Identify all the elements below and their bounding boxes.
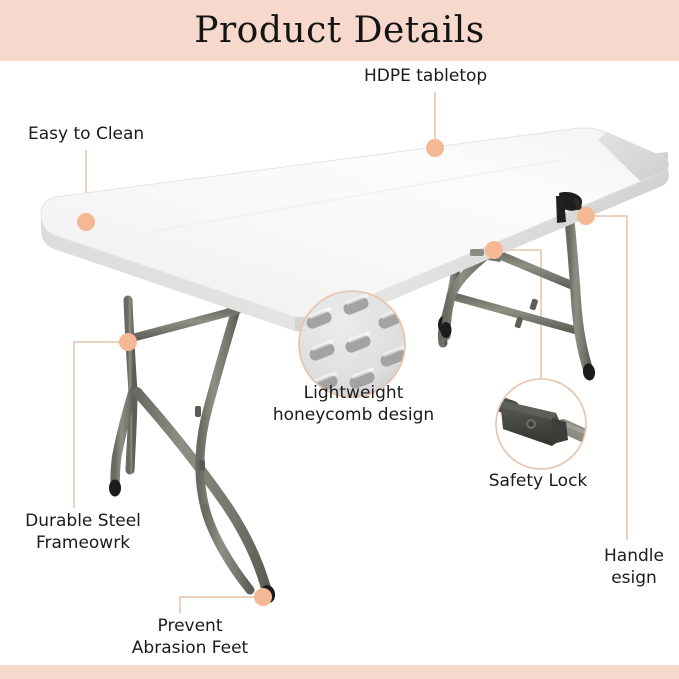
- callout-label-durable-steel-framework: Durable Steel Frameowrk: [8, 511, 158, 555]
- right-lower-rail: [452, 296, 575, 330]
- left-diagonal-support-lower: [205, 508, 250, 590]
- callout-label-safety-lock: Safety Lock: [473, 471, 603, 493]
- left-upper-rail: [132, 310, 238, 338]
- dot-safety-lock: [485, 241, 503, 259]
- left-brace-stub-2: [199, 460, 205, 471]
- dot-prevent-abrasion-feet: [254, 588, 272, 606]
- right-upper-rail: [492, 252, 576, 287]
- callout-label-lightweight-honeycomb-design: Lightweight honeycomb design: [256, 383, 451, 427]
- right-frame-left-foot: [441, 322, 452, 338]
- right-brace-stub-1: [529, 298, 538, 310]
- right-mount-plate: [470, 249, 484, 256]
- right-frame-front-leg: [569, 215, 589, 372]
- left-brace-stub-1: [195, 406, 201, 417]
- callout-label-hdpe-tabletop: HDPE tabletop: [364, 66, 487, 88]
- leader-feet: [180, 597, 257, 613]
- right-brace-stub-2: [514, 316, 523, 328]
- dot-easy-to-clean: [77, 213, 95, 231]
- product-illustration: [0, 0, 679, 679]
- callout-label-handle-design: Handle esign: [589, 546, 679, 590]
- dot-handle-design: [577, 207, 595, 225]
- dot-hdpe-tabletop: [426, 139, 444, 157]
- callout-label-prevent-abrasion-feet: Prevent Abrasion Feet: [112, 616, 268, 660]
- honeycomb-inset: [299, 291, 407, 397]
- safety-lock-inset: [487, 379, 605, 469]
- left-frame-left-foot: [109, 480, 121, 497]
- infographic-root: Product Details: [0, 0, 679, 679]
- callout-label-easy-to-clean: Easy to Clean: [28, 124, 144, 146]
- dot-durable-steel-framework: [119, 333, 137, 351]
